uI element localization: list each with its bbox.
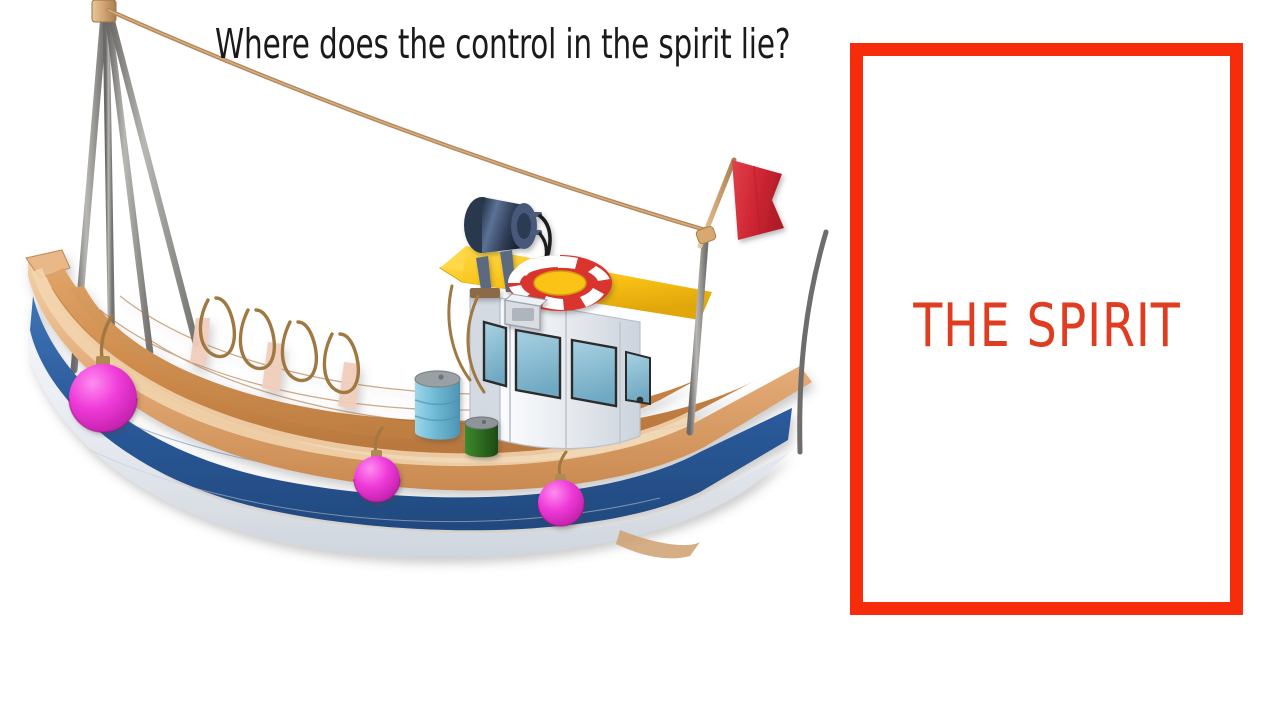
cabin-window-left — [484, 322, 506, 386]
page-title: Where does the control in the spirit lie… — [215, 22, 775, 67]
fishing-boat-illustration — [0, 0, 860, 600]
cabin-window-mid — [516, 330, 560, 398]
green-can — [465, 417, 498, 457]
stern-rod — [800, 232, 826, 452]
cabin-window-far — [626, 352, 650, 404]
cabin-latch — [637, 397, 644, 404]
spirit-label: THE SPIRIT — [913, 291, 1180, 361]
control-box — [505, 294, 547, 330]
winch-base — [470, 288, 500, 298]
cabin-window-right — [572, 340, 616, 406]
spirit-callout-inner: THE SPIRIT — [863, 56, 1230, 602]
blue-barrel — [415, 371, 460, 440]
keel-shadow — [616, 530, 700, 558]
slide-canvas: Where does the control in the spirit lie… — [0, 0, 1280, 720]
spirit-callout-box: THE SPIRIT — [850, 43, 1243, 615]
